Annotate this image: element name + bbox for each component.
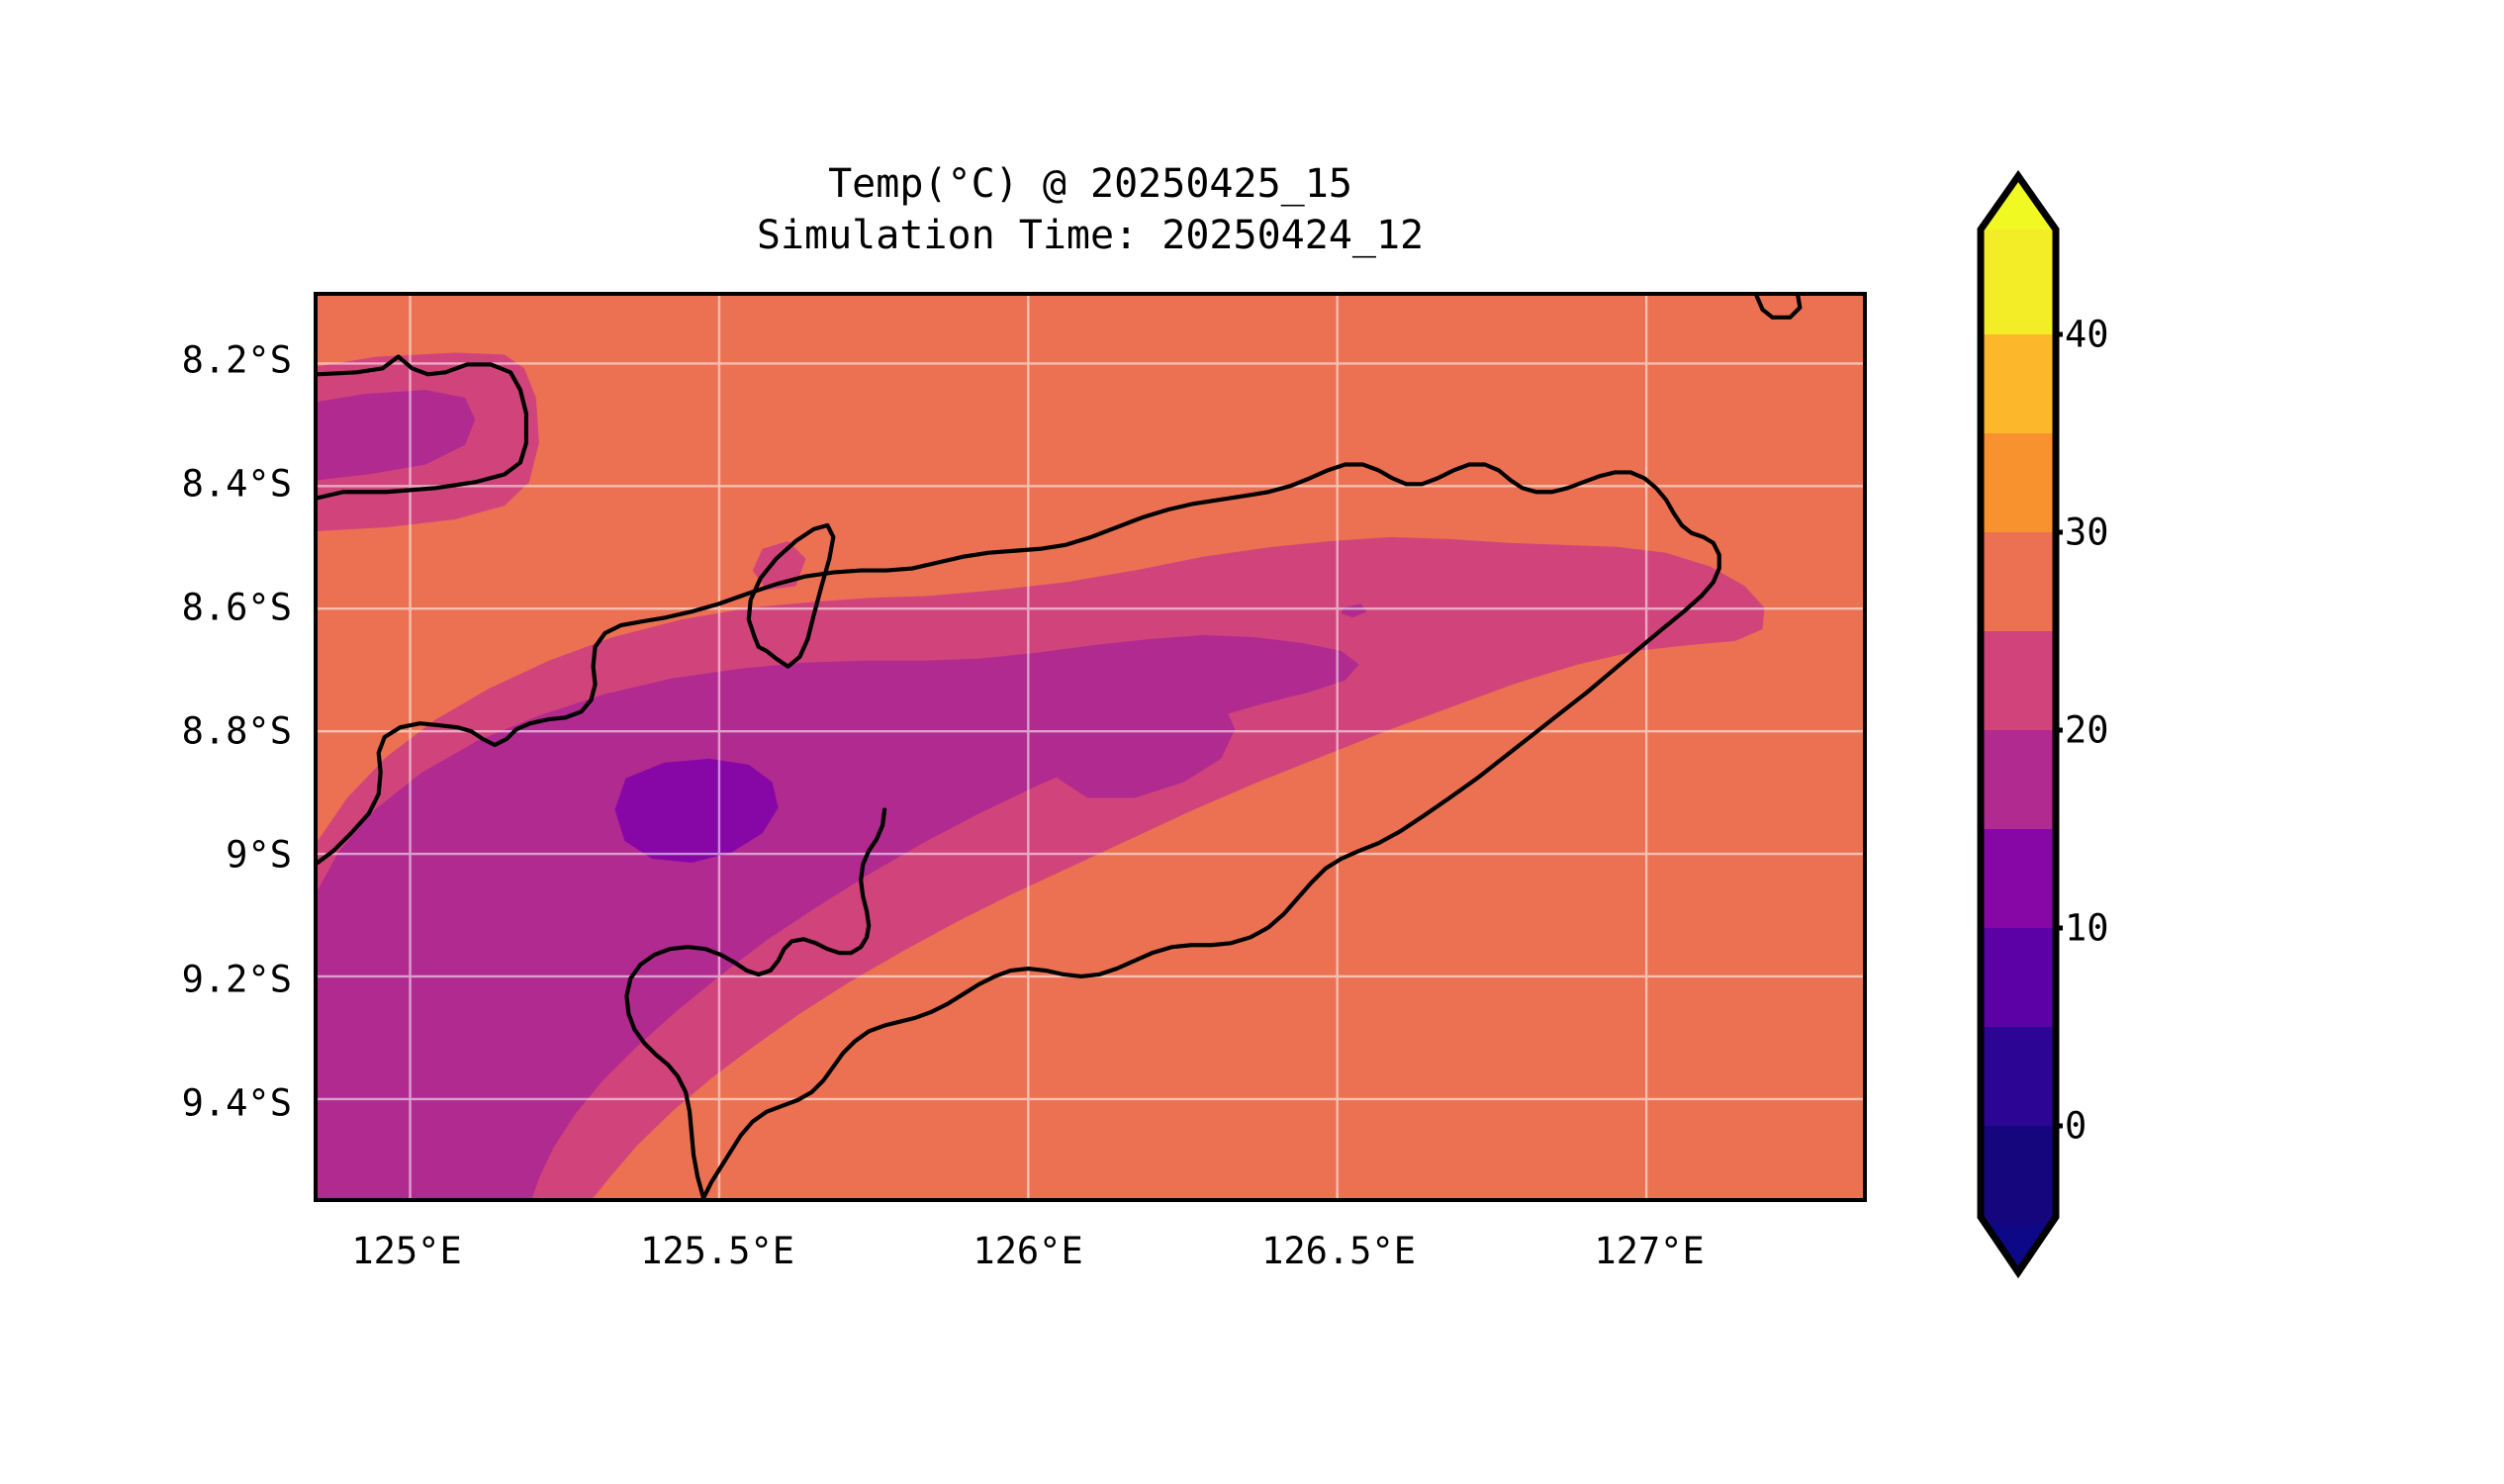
- colorbar-tick-label-20: 20: [2065, 709, 2109, 752]
- xtick-label-0: 125°E: [351, 1230, 461, 1272]
- ytick-label-4: 9°S: [226, 834, 292, 877]
- colorbar-band-5-10: [1974, 928, 2063, 1027]
- xtick-label-4: 127°E: [1594, 1230, 1704, 1272]
- colorbar-band-35-40: [1974, 334, 2063, 433]
- colorbar-tick-label-30: 30: [2065, 511, 2109, 554]
- longitude-axis: 125°E 125.5°E 126°E 126.5°E 127°E: [314, 1230, 1867, 1289]
- xtick-label-2: 126°E: [973, 1230, 1082, 1272]
- chart-title-line-2: Simulation Time: 20250424_12: [314, 210, 1867, 261]
- ytick-label-1: 8.4°S: [182, 463, 292, 506]
- temperature-contour-map: [318, 296, 1863, 1198]
- chart-title: Temp(°C) @ 20250425_15 Simulation Time: …: [314, 158, 1867, 261]
- colorbar-tick-label-40: 40: [2065, 314, 2109, 356]
- colorbar-band-25-30: [1974, 532, 2063, 631]
- colorbar-band-40-45: [1974, 230, 2063, 334]
- colorbar-band-10-15: [1974, 829, 2063, 928]
- map-plot-area: [314, 292, 1867, 1202]
- figure-canvas: Temp(°C) @ 20250425_15 Simulation Time: …: [0, 0, 2504, 1484]
- colorbar-under-arrow: [1974, 1225, 2063, 1336]
- colorbar-tick-label-10: 10: [2065, 907, 2109, 950]
- ytick-label-2: 8.6°S: [182, 587, 292, 629]
- ytick-label-3: 8.8°S: [182, 710, 292, 753]
- xtick-label-1: 125.5°E: [640, 1230, 794, 1272]
- colorbar-band-20-25: [1974, 631, 2063, 730]
- ytick-label-0: 8.2°S: [182, 338, 292, 381]
- colorbar-band-minus5-0: [1974, 1126, 2063, 1225]
- latitude-axis: 8.2°S 8.4°S 8.6°S 8.8°S 9°S 9.2°S 9.4°S: [0, 292, 292, 1202]
- colorbar-band-30-35: [1974, 433, 2063, 532]
- colorbar-band-15-20: [1974, 730, 2063, 829]
- chart-title-line-1: Temp(°C) @ 20250425_15: [314, 158, 1867, 210]
- ytick-label-6: 9.4°S: [182, 1081, 292, 1124]
- colorbar-gradient: [1974, 168, 2063, 1336]
- colorbar-tick-label-0: 0: [2065, 1105, 2087, 1148]
- xtick-label-3: 126.5°E: [1261, 1230, 1416, 1272]
- colorbar: 40 30 20 10 0: [1974, 168, 2389, 1336]
- colorbar-bands: [1974, 168, 2063, 1336]
- ytick-label-5: 9.2°S: [182, 958, 292, 1000]
- colorbar-band-0-5: [1974, 1027, 2063, 1126]
